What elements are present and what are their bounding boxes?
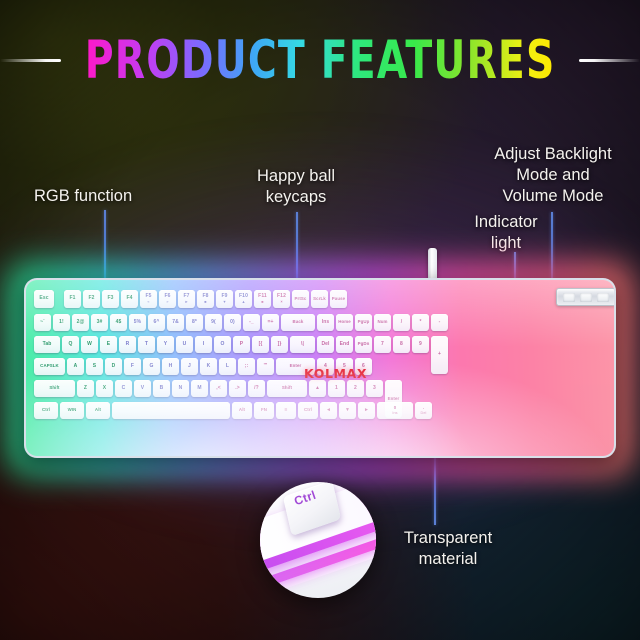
title-row: PRODUCT FEATURES <box>0 32 640 88</box>
title-dash-left-icon <box>0 59 61 62</box>
callout-label-transparent-material: Transparent material <box>378 528 518 570</box>
product-feature-graphic: PRODUCT FEATURES RGB function Happy ball… <box>0 0 640 640</box>
usb-cable-icon <box>428 248 437 280</box>
title-dash-right-icon <box>579 59 640 62</box>
page-title: PRODUCT FEATURES <box>85 34 556 86</box>
magnifier-inset-transparent-material: Ctrl <box>260 482 376 598</box>
keyboard-sheen-overlay <box>26 280 614 456</box>
callout-label-indicator-light: Indicator light <box>440 212 572 254</box>
callout-label-rgb-function: RGB function <box>34 186 214 207</box>
keyboard-body: EscF1F2F3F4F5«F6»F7►F8■F9▼F10▲F11■F12☀Pr… <box>24 278 616 458</box>
callout-label-happy-ball-keycaps: Happy ball keycaps <box>222 166 370 208</box>
callout-label-backlight-volume-mode: Adjust Backlight Mode and Volume Mode <box>468 144 638 207</box>
keyboard-product-image: EscF1F2F3F4F5«F6»F7►F8■F9▼F10▲F11■F12☀Pr… <box>24 278 616 458</box>
